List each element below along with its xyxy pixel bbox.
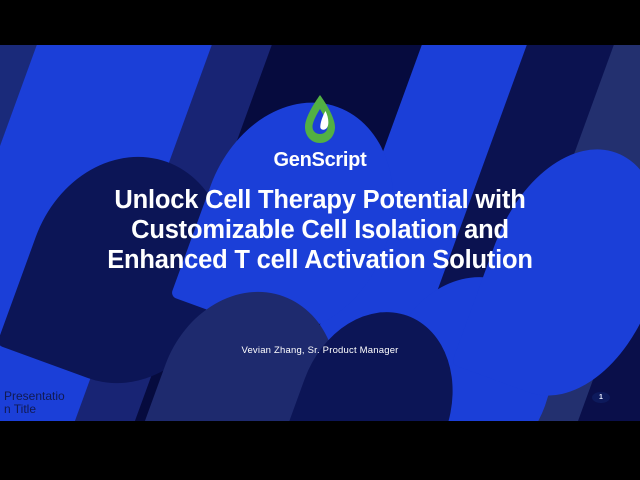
presentation-slide: GenScript Unlock Cell Therapy Potential … xyxy=(0,45,640,421)
slide-title: Unlock Cell Therapy Potential with Custo… xyxy=(0,185,640,275)
title-line-3: Enhanced T cell Activation Solution xyxy=(0,245,640,275)
letterbox-bar-bottom xyxy=(0,421,640,480)
genscript-logo: GenScript xyxy=(0,93,640,172)
letterbox-bar-top xyxy=(0,0,640,45)
footer-placeholder-line-2: n Title xyxy=(4,403,65,416)
page-number-badge: 1 xyxy=(592,392,610,403)
footer-placeholder-text: Presentatio n Title xyxy=(4,390,65,416)
genscript-droplet-icon xyxy=(297,93,343,147)
title-line-1: Unlock Cell Therapy Potential with xyxy=(0,185,640,215)
video-player[interactable]: GenScript Unlock Cell Therapy Potential … xyxy=(0,0,640,480)
title-line-2: Customizable Cell Isolation and xyxy=(0,215,640,245)
presenter-byline: Vevian Zhang, Sr. Product Manager xyxy=(0,345,640,356)
genscript-wordmark: GenScript xyxy=(0,149,640,172)
